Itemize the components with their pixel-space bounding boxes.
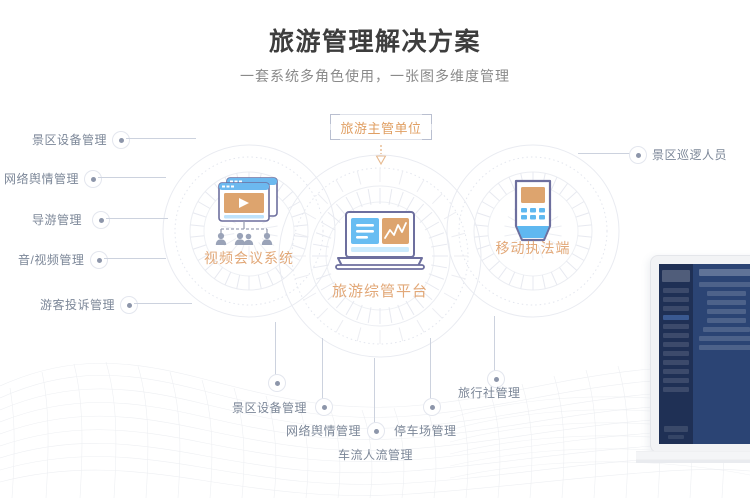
- laptop-screen: [650, 255, 750, 453]
- left-label-2: 导游管理: [32, 211, 82, 228]
- authority-badge-label: 旅游主管单位: [340, 118, 421, 137]
- left-label-1: 网络舆情管理: [4, 170, 79, 187]
- left-dot-1: [85, 171, 101, 187]
- laptop-base: [636, 451, 750, 467]
- badge-border-top: [339, 114, 423, 115]
- bottom-label-4: 旅行社管理: [458, 384, 521, 401]
- bottom-line-3: [430, 338, 431, 400]
- node-mobile-enforcement[interactable]: 移动执法端: [444, 142, 622, 320]
- bottom-line-0: [275, 322, 276, 376]
- badge-corner-bottom-left: [330, 130, 340, 140]
- laptop-dashboard-mockup: [636, 255, 750, 498]
- left-dot-0: [113, 132, 129, 148]
- bottom-dot-1: [316, 399, 332, 415]
- dashboard-content: [693, 264, 750, 444]
- node-mobile-enforcement-label: 移动执法端: [453, 238, 613, 258]
- dashboard-sidebar: [659, 264, 693, 444]
- bottom-label-0: 景区设备管理: [232, 399, 307, 416]
- left-dot-3: [91, 252, 107, 268]
- right-dot-0: [630, 147, 646, 163]
- badge-corner-top-right: [422, 114, 432, 124]
- left-line-4: [134, 303, 192, 304]
- left-line-3: [104, 258, 166, 259]
- badge-border-bottom: [339, 139, 423, 140]
- node-tourism-platform-label: 旅游综管平台: [300, 280, 460, 301]
- left-label-4: 游客投诉管理: [40, 296, 115, 313]
- bottom-dot-3: [424, 399, 440, 415]
- left-dot-4: [121, 297, 137, 313]
- left-line-1: [98, 177, 166, 178]
- bottom-label-3: 停车场管理: [394, 422, 457, 439]
- badge-corner-top-left: [330, 114, 340, 124]
- right-line-0: [578, 153, 630, 154]
- page-title: 旅游管理解决方案: [0, 22, 750, 58]
- dashboard-ui: [659, 264, 750, 444]
- bottom-label-2: 车流人流管理: [338, 446, 413, 463]
- poster-canvas: 旅游管理解决方案 一套系统多角色使用，一张图多维度管理 旅游主管单位: [0, 0, 750, 498]
- right-label-0: 景区巡逻人员: [652, 146, 727, 163]
- bottom-dot-0: [269, 375, 285, 391]
- authority-badge: 旅游主管单位: [330, 114, 432, 140]
- page-subtitle: 一套系统多角色使用，一张图多维度管理: [0, 66, 750, 86]
- bottom-line-1: [322, 338, 323, 400]
- left-dot-2: [93, 212, 109, 228]
- laptop-platform-icon: [332, 210, 428, 276]
- left-label-0: 景区设备管理: [32, 131, 107, 148]
- left-label-3: 音/视频管理: [18, 251, 84, 268]
- left-line-0: [126, 138, 196, 139]
- left-line-2: [106, 218, 168, 219]
- badge-corner-bottom-right: [422, 130, 432, 140]
- bottom-dot-2: [368, 423, 384, 439]
- bottom-line-2: [374, 358, 375, 424]
- bottom-line-4: [494, 316, 495, 372]
- bottom-label-1: 网络舆情管理: [286, 422, 361, 439]
